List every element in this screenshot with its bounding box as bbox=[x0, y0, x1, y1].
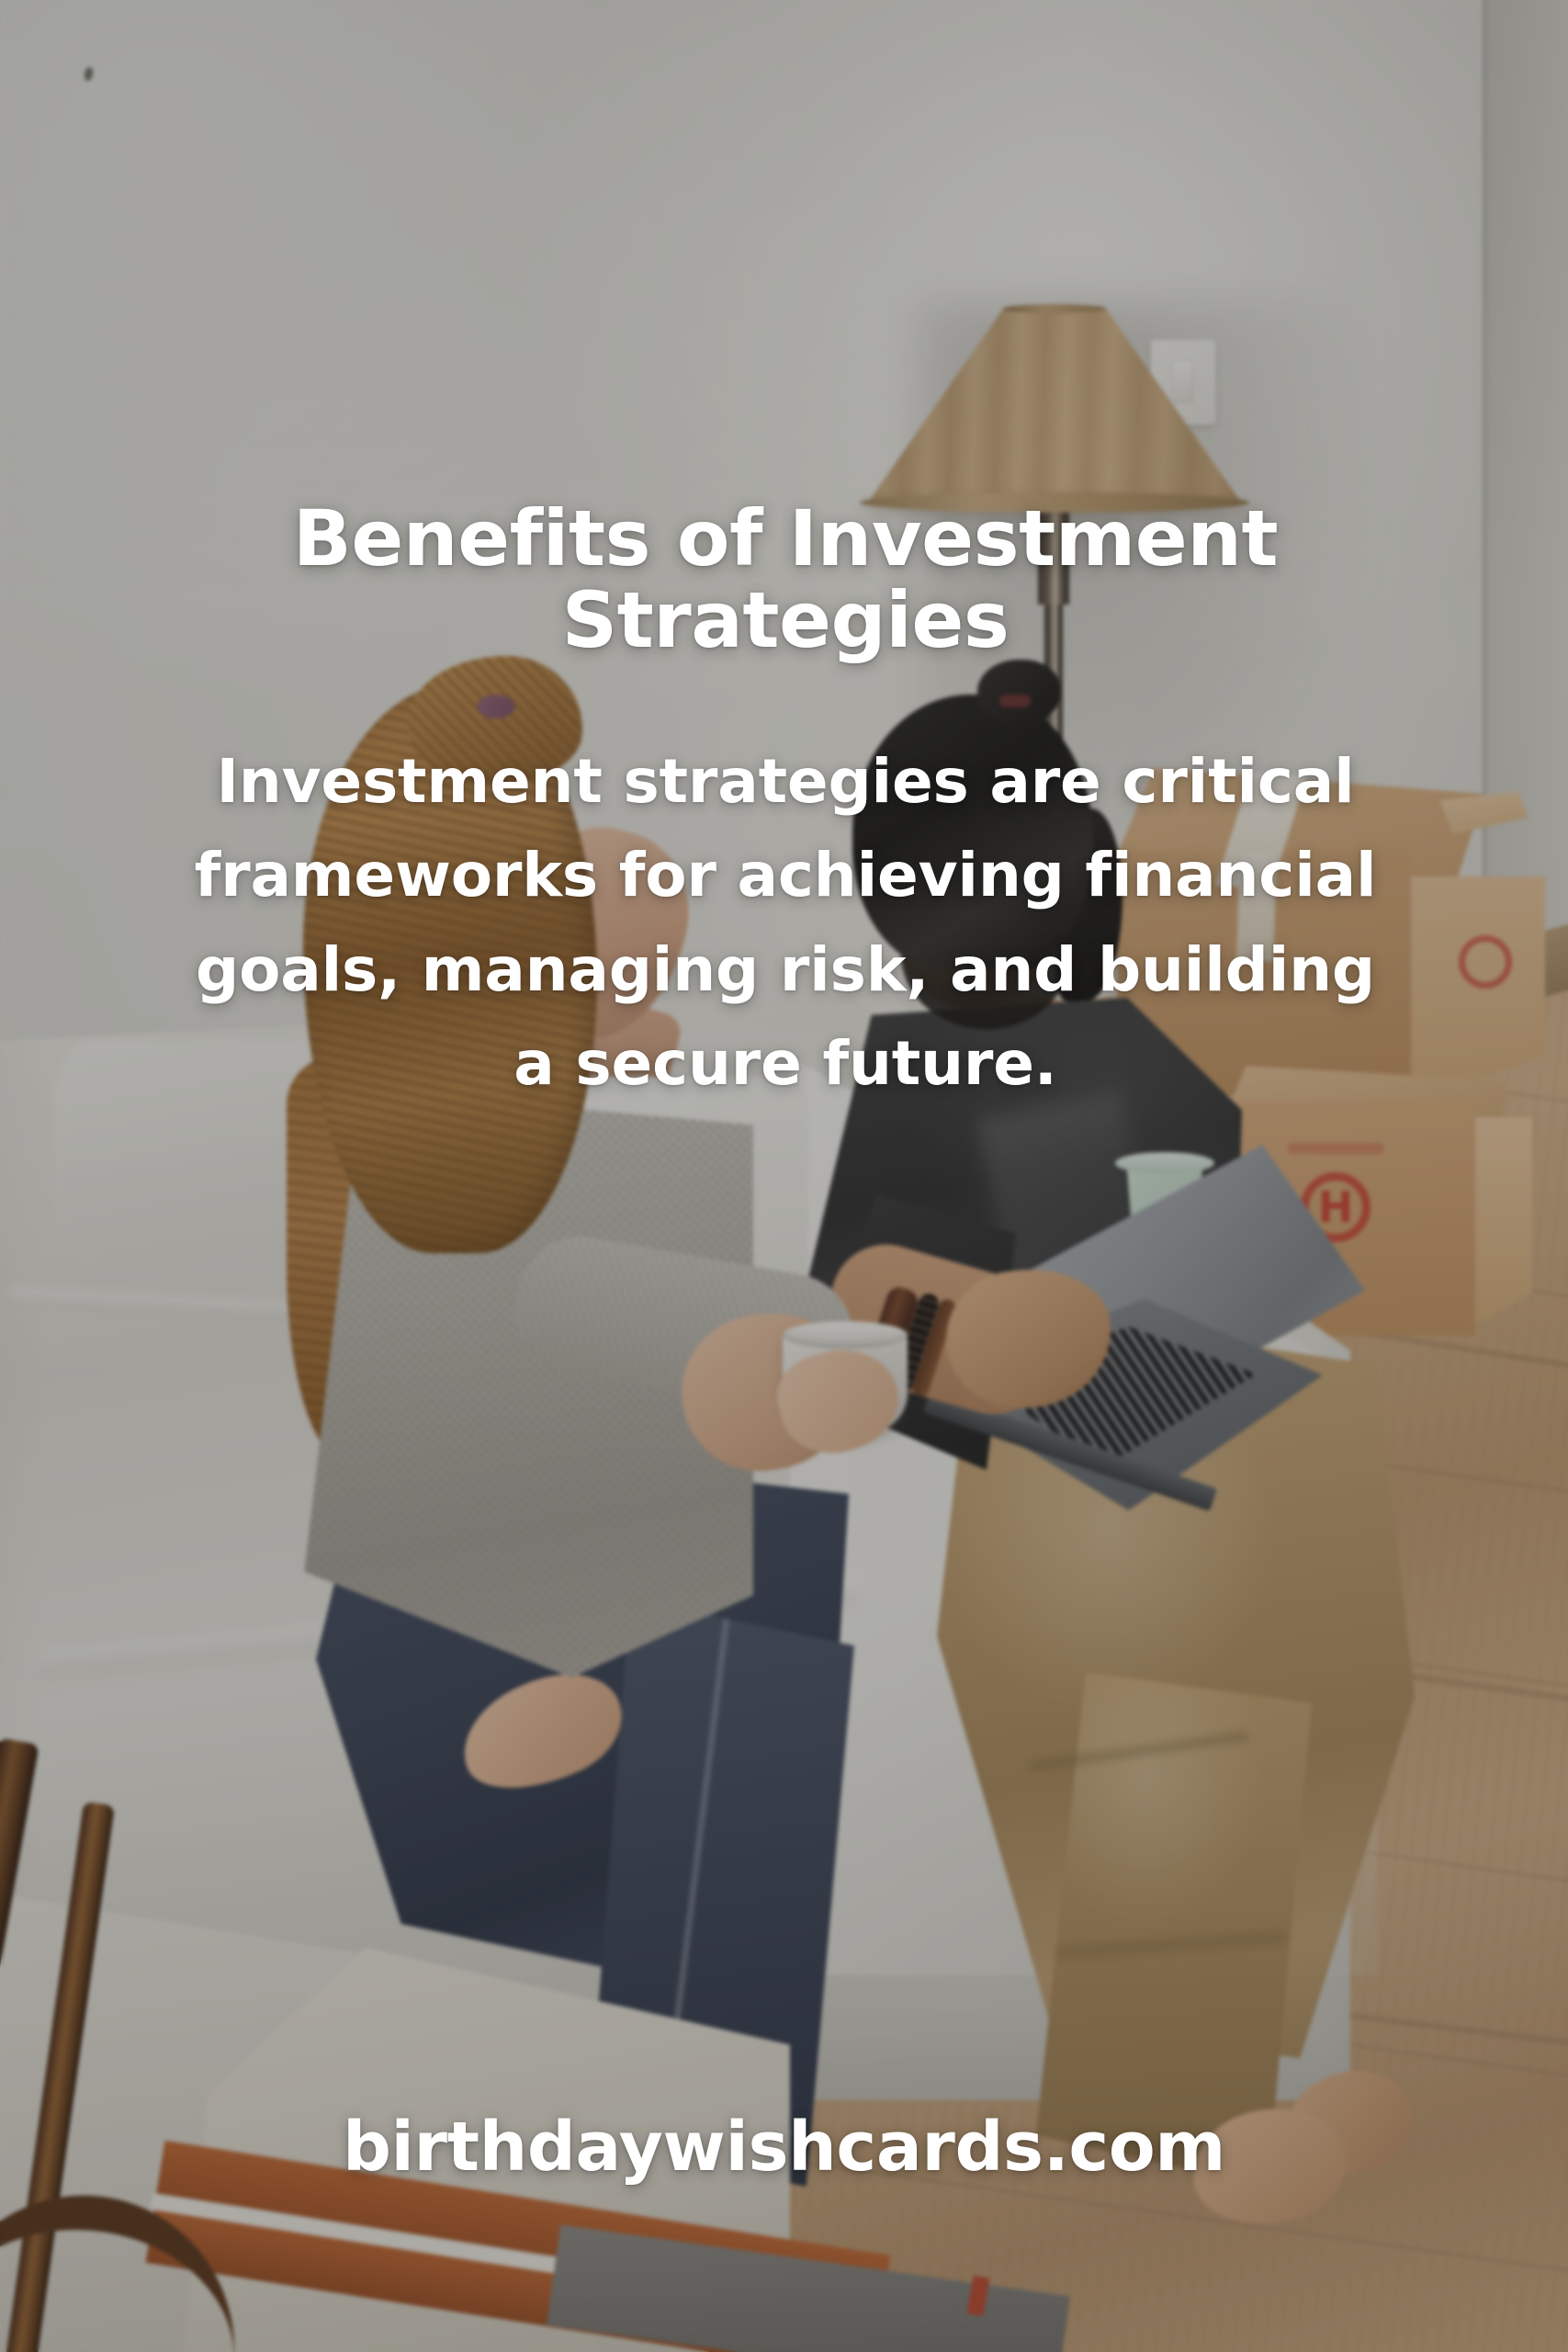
card-body-text: Investment strategies are critical frame… bbox=[175, 735, 1396, 1111]
quote-card: H bbox=[0, 0, 1568, 2352]
text-layer: Benefits of Investment Strategies Invest… bbox=[0, 0, 1568, 2352]
card-title: Benefits of Investment Strategies bbox=[184, 498, 1387, 661]
site-watermark: birthdaywishcards.com bbox=[0, 2113, 1568, 2181]
